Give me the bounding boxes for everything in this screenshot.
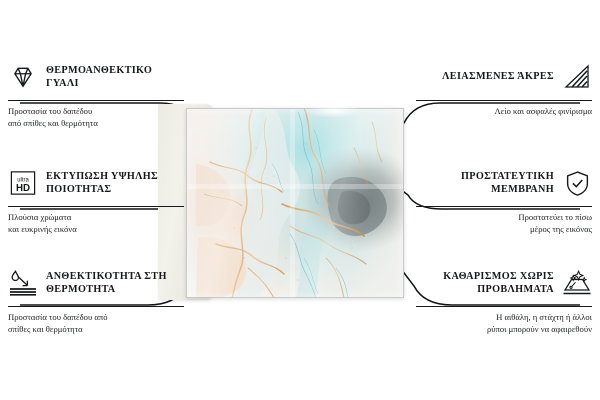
product-image [186,108,404,298]
svg-text:HD: HD [16,183,30,194]
feature-block-protective-membrane: ΠΡΟΣΤΑΤΕΥΤΙΚΗ ΜΕΜΒΡΑΝΗ Προστατεύει το πί… [416,164,592,236]
infographic-canvas: ΘΕΡΜΟΑΝΘΕΚΤΙΚΟ ΓΥΑΛΙ Προστασία του δαπέδ… [0,0,600,400]
feature-block-polished-edges: ΛΕΙΑΣΜΕΝΕΣ ΆΚΡΕΣ Λείο και ασφαλές φινίρι… [416,58,592,118]
feature-description: Προστασία του δαπέδου από σπίθες και θερ… [8,312,184,336]
divider [8,206,184,207]
feature-header: ΛΕΙΑΣΜΕΝΕΣ ΆΚΡΕΣ [416,58,592,96]
feature-description: Προστατεύει το πίσω μέρος της εικόνας [416,212,592,236]
feature-title: ΑΝΘΕΚΤΙΚΟΤΗΤΑ ΣΤΗ ΘΕΡΜΟΤΗΤΑ [46,270,184,296]
feature-description: Λείο και ασφαλές φινίρισμα [416,106,592,118]
feature-title: ΕΚΤΥΠΩΣΗ ΥΨΗΛΗΣ ΠΟΙΟΤΗΤΑΣ [46,170,184,196]
divider [8,100,184,101]
feature-header: ΑΝΘΕΚΤΙΚΟΤΗΤΑ ΣΤΗ ΘΕΡΜΟΤΗΤΑ [8,264,184,302]
feature-header: ΠΡΟΣΤΑΤΕΥΤΙΚΗ ΜΕΜΒΡΑΝΗ [416,164,592,202]
feature-title: ΛΕΙΑΣΜΕΝΕΣ ΆΚΡΕΣ [442,70,554,83]
feature-description: Προστασία του δαπέδου από σπίθες και θερ… [8,106,184,130]
feature-title: ΚΑΘΑΡΙΣΜΟΣ ΧΩΡΙΣ ΠΡΟΒΛΗΜΑΤΑ [416,270,554,296]
feature-description: Η αιθάλη, η στάχτη ή άλλοι ρύποι μπορούν… [416,312,592,336]
ultra-hd-icon: ultra HD [8,168,38,198]
feature-header: ΚΑΘΑΡΙΣΜΟΣ ΧΩΡΙΣ ΠΡΟΒΛΗΜΑΤΑ [416,264,592,302]
glass-glare [306,104,362,118]
diamond-icon [8,62,38,92]
glass-panel [186,108,404,298]
feature-title: ΘΕΡΜΟΑΝΘΕΚΤΙΚΟ ΓΥΑΛΙ [46,64,184,90]
divider [416,206,592,207]
feature-title: ΠΡΟΣΤΑΤΕΥΤΙΚΗ ΜΕΜΒΡΑΝΗ [416,170,554,196]
feature-header: ultra HD ΕΚΤΥΠΩΣΗ ΥΨΗΛΗΣ ΠΟΙΟΤΗΤΑΣ [8,164,184,202]
divider [8,306,184,307]
divider [416,306,592,307]
feature-header: ΘΕΡΜΟΑΝΘΕΚΤΙΚΟ ΓΥΑΛΙ [8,58,184,96]
feature-block-heat-durability: ΑΝΘΕΚΤΙΚΟΤΗΤΑ ΣΤΗ ΘΕΡΜΟΤΗΤΑ Προστασία το… [8,264,184,336]
divider [416,100,592,101]
feature-description: Πλούσια χρώματα και ευκρινής εικόνα [8,212,184,236]
feature-block-easy-cleaning: ΚΑΘΑΡΙΣΜΟΣ ΧΩΡΙΣ ΠΡΟΒΛΗΜΑΤΑ Η αιθάλη, η … [416,264,592,336]
flame-resistant-icon [8,268,38,298]
easy-clean-sparkle-icon [562,268,592,298]
glass-edge [186,108,404,298]
feature-block-heat-resistant-glass: ΘΕΡΜΟΑΝΘΕΚΤΙΚΟ ΓΥΑΛΙ Προστασία του δαπέδ… [8,58,184,130]
polished-edges-icon [562,62,592,92]
shield-check-icon [562,168,592,198]
feature-block-high-quality-print: ultra HD ΕΚΤΥΠΩΣΗ ΥΨΗΛΗΣ ΠΟΙΟΤΗΤΑΣ Πλούσ… [8,164,184,236]
